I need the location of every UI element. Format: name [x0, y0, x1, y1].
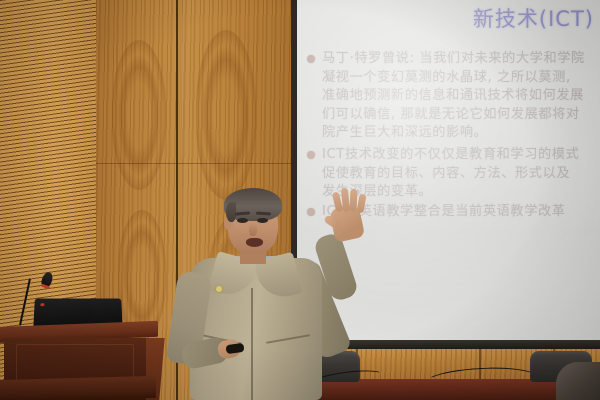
nose	[249, 223, 257, 236]
lapel-badge	[216, 286, 222, 292]
slide-bullet-text: 马丁·特罗曾说: 当我们对未来的大学和学院 凝视一个变幻莫测的水晶球, 之所以莫…	[322, 50, 585, 143]
wood-knot	[196, 30, 256, 200]
bullet-dot-icon	[307, 55, 315, 63]
eye	[237, 218, 248, 223]
eye	[257, 218, 268, 223]
slide-title: 新技术(ICT)	[473, 3, 594, 33]
wood-knot	[112, 40, 166, 190]
panel-seam-horizontal	[96, 163, 302, 164]
slide-bullet: 马丁·特罗曾说: 当我们对未来的大学和学院 凝视一个变幻莫测的水晶球, 之所以莫…	[307, 50, 600, 143]
jacket-zipper	[251, 288, 253, 400]
finger	[356, 194, 366, 214]
presenter	[150, 188, 400, 400]
lecture-photo: 新技术(ICT) 马丁·特罗曾说: 当我们对未来的大学和学院 凝视一个变幻莫测的…	[0, 0, 600, 400]
bullet-dot-icon	[307, 151, 315, 159]
podium-base	[0, 376, 156, 400]
mouth	[246, 238, 263, 247]
foreground-chair	[556, 362, 600, 400]
presenter-hair	[224, 188, 282, 221]
